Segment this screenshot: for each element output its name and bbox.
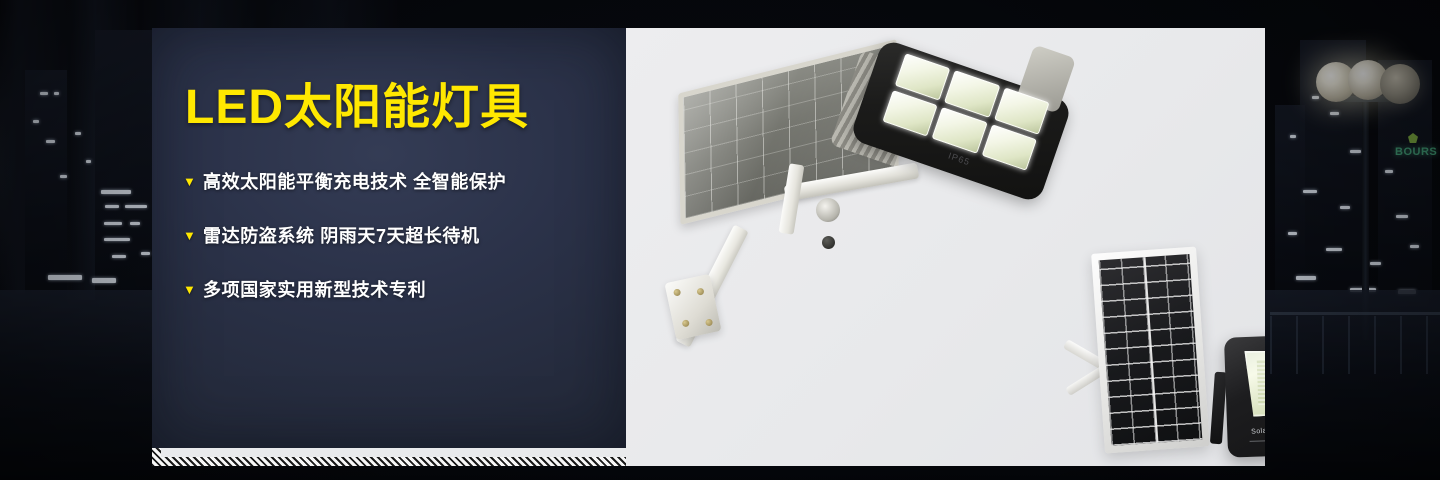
frame-inner-surface: LED太阳能灯具 ▼ 高效太阳能平衡充电技术 全智能保护 ▼ 雷达防盗系统 阴雨… [161,37,1256,457]
page-title: LED太阳能灯具 [185,84,529,132]
bolt-icon [682,319,690,327]
bolt-icon [705,318,713,326]
bolt-icon [673,288,681,296]
solar-panel-busbar [1143,257,1158,443]
flood-light-housing: Solar light 100W IP67 [1224,332,1265,457]
feature-text: 高效太阳能平衡充电技术 全智能保护 [203,168,506,194]
solar-street-light-product: IP65 [666,46,1086,346]
list-item: ▼ 雷达防盗系统 阴雨天7天超长待机 [183,222,603,248]
street-light-sensor-icon [822,236,835,249]
triangle-down-icon: ▼ [183,283,203,296]
flood-light-brand-label: Solar light [1251,426,1265,436]
standalone-solar-panel-product [1091,247,1210,454]
product-showcase: IP65 [626,28,1265,466]
list-item: ▼ 多项国家实用新型技术专利 [183,276,603,302]
flood-light-label-row: Solar light 100W [1251,421,1265,438]
triangle-down-icon: ▼ [183,229,203,242]
solar-panel-frame [1091,247,1210,454]
hatched-frame-border: LED太阳能灯具 ▼ 高效太阳能平衡充电技术 全智能保护 ▼ 雷达防盗系统 阴雨… [152,28,1265,466]
solar-panel-cells [1099,254,1203,446]
solar-flood-light-product: Solar light 100W IP67 [1224,332,1265,457]
bolt-icon [696,287,704,295]
promo-banner: BOURS LED太阳能灯具 ▼ 高效太阳能平衡充电技术 全智能保护 ▼ 雷达防… [0,0,1440,480]
flood-light-bracket [1210,372,1227,445]
flood-light-led-face [1244,347,1265,417]
feature-text: 雷达防盗系统 阴雨天7天超长待机 [203,222,480,248]
feature-list: ▼ 高效太阳能平衡充电技术 全智能保护 ▼ 雷达防盗系统 阴雨天7天超长待机 ▼… [183,168,603,330]
list-item: ▼ 高效太阳能平衡充电技术 全智能保护 [183,168,603,194]
text-panel: LED太阳能灯具 ▼ 高效太阳能平衡充电技术 全智能保护 ▼ 雷达防盗系统 阴雨… [152,28,626,448]
triangle-down-icon: ▼ [183,175,203,188]
street-light-joint [816,198,840,222]
feature-text: 多项国家实用新型技术专利 [203,276,426,302]
